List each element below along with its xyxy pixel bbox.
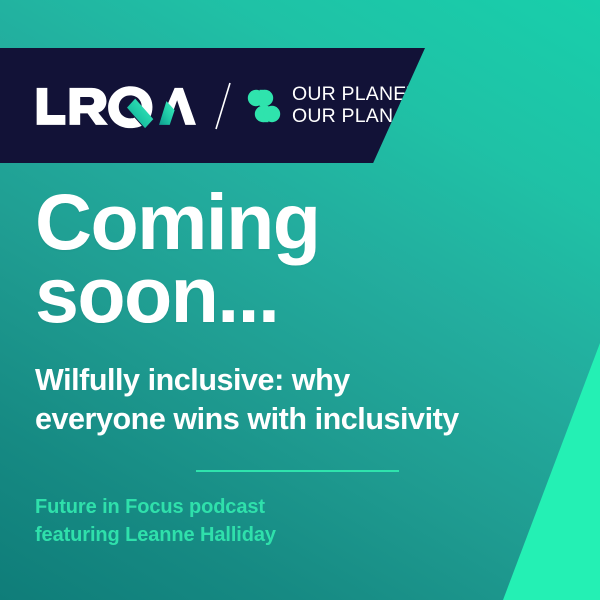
- brand-banner: OUR PLANET OUR PLAN: [0, 48, 425, 163]
- episode-title-line-2: everyone wins with inclusivity: [35, 400, 555, 439]
- divider: [196, 470, 399, 472]
- clover-icon: [247, 89, 281, 123]
- podcast-promo-card: OUR PLANET OUR PLAN Coming soon... Wilfu…: [0, 0, 600, 600]
- brand-divider-slash-icon: [212, 81, 234, 131]
- lrqa-logo: [35, 83, 196, 129]
- podcast-credit: Future in Focus podcast featuring Leanne…: [35, 494, 560, 548]
- credit-line-2: featuring Leanne Halliday: [35, 522, 560, 549]
- our-planet-our-plan-text: OUR PLANET OUR PLAN: [292, 83, 419, 128]
- episode-title-line-1: Wilfully inclusive: why: [35, 361, 555, 400]
- headline-line-2: soon...: [35, 259, 560, 332]
- credit-line-1: Future in Focus podcast: [35, 494, 560, 521]
- our-planet-our-plan-lockup: OUR PLANET OUR PLAN: [247, 83, 419, 128]
- programme-line-2: OUR PLAN: [292, 106, 419, 129]
- main-content: Coming soon... Wilfully inclusive: why e…: [35, 186, 560, 549]
- programme-line-1: OUR PLANET: [292, 83, 419, 106]
- headline-line-1: Coming: [35, 186, 560, 259]
- episode-title: Wilfully inclusive: why everyone wins wi…: [35, 361, 555, 439]
- page-title: Coming soon...: [35, 186, 560, 331]
- brand-banner-content: OUR PLANET OUR PLAN: [35, 48, 419, 163]
